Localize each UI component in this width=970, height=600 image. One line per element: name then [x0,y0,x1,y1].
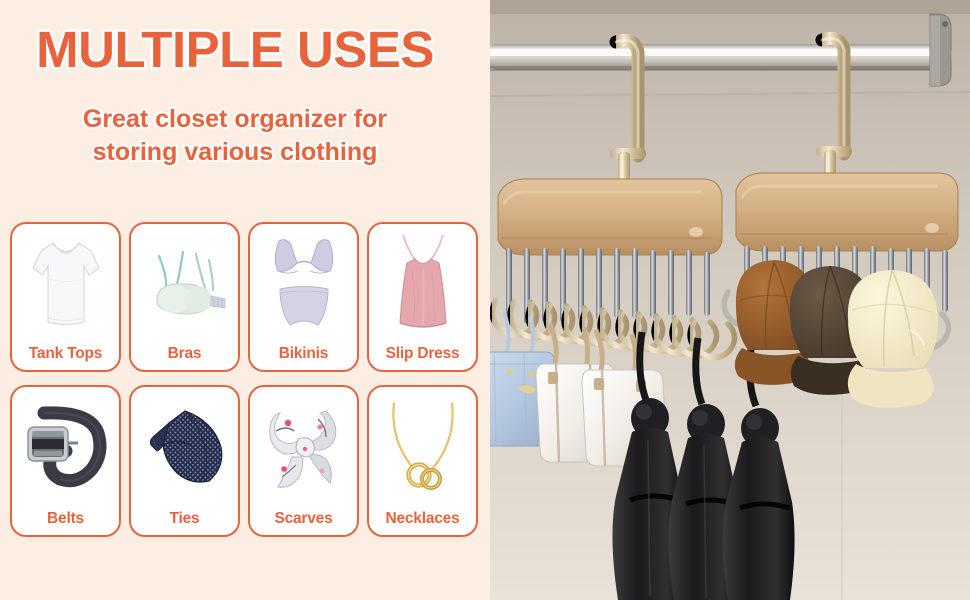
category-card-slip-dress[interactable]: Slip Dress [367,222,478,372]
subtitle-line-2: storing various clothing [0,136,470,169]
closet-rod [490,44,952,71]
category-card-tank-tops[interactable]: Tank Tops [10,222,121,372]
scarf-icon [250,387,357,507]
left-info-panel: MULTIPLE USES Great closet organizer for… [0,0,490,600]
category-label: Slip Dress [386,345,460,370]
bra-icon [131,224,238,342]
category-card-bras[interactable]: Bras [129,222,240,372]
bikini-icon [250,224,357,342]
tie-icon [131,387,238,507]
category-label: Bras [168,345,202,370]
page-subtitle: Great closet organizer for storing vario… [0,103,470,168]
category-label: Ties [170,510,200,535]
product-in-use-photo [490,0,970,600]
category-label: Belts [47,510,84,535]
category-label: Tank Tops [29,345,102,370]
category-label: Scarves [274,510,332,535]
category-card-belts[interactable]: Belts [10,385,121,537]
wooden-hanger-bar-left [498,179,722,255]
subtitle-line-1: Great closet organizer for [83,105,387,133]
page-title: MULTIPLE USES [0,24,470,75]
slip-dress-icon [369,224,476,342]
category-card-ties[interactable]: Ties [129,385,240,537]
closet-scene [490,0,970,600]
tank-top-icon [12,224,119,342]
necklace-icon [369,387,476,507]
product-feature-image: MULTIPLE USES Great closet organizer for… [0,0,970,600]
belt-icon [12,387,119,507]
cream-cap [848,270,938,408]
category-label: Bikinis [279,345,328,370]
category-card-bikinis[interactable]: Bikinis [248,222,359,372]
wooden-hanger-bar-right [736,173,958,251]
category-grid: Tank Tops Bra [10,222,478,537]
wall-bracket [930,14,951,86]
category-card-scarves[interactable]: Scarves [248,385,359,537]
category-card-necklaces[interactable]: Necklaces [367,385,478,537]
category-label: Necklaces [385,510,459,535]
